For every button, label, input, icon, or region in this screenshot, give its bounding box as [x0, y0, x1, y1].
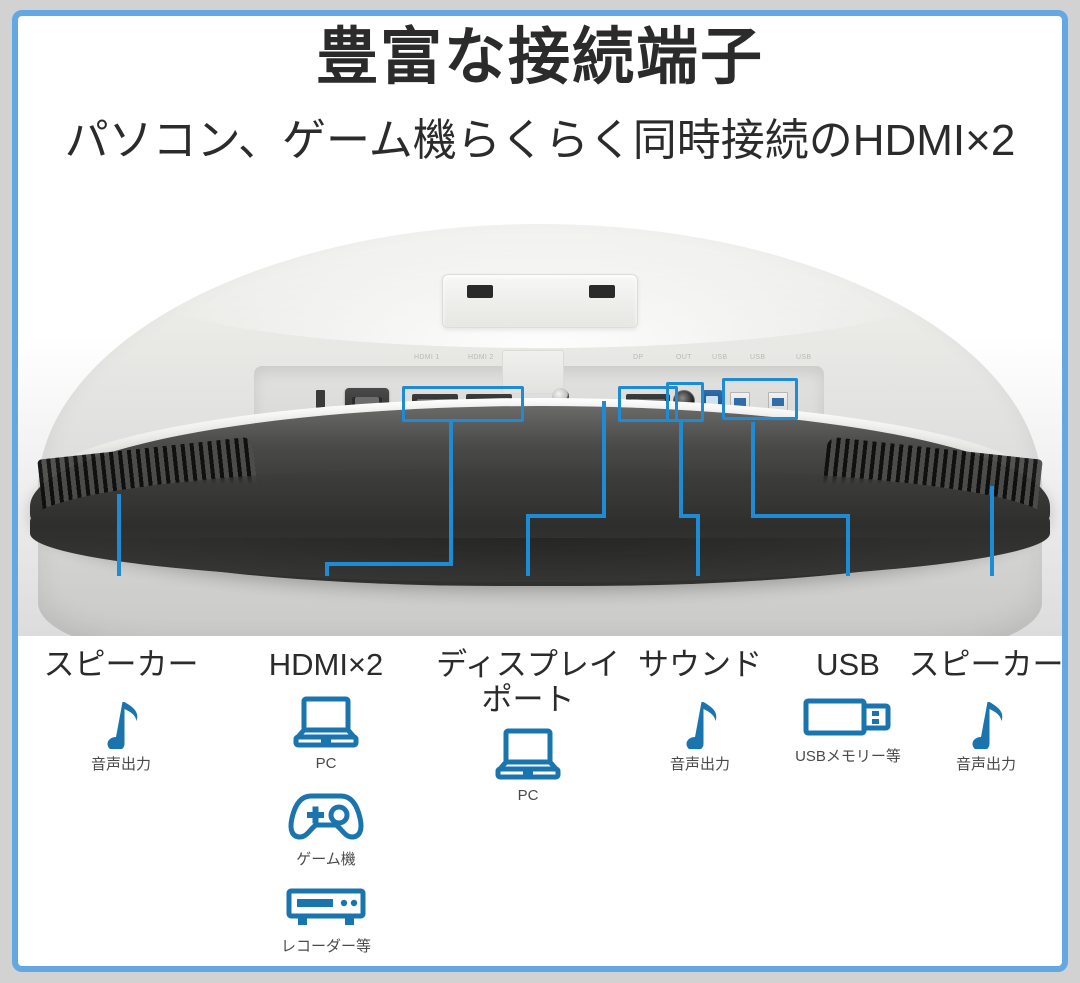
gamepad-icon	[230, 786, 422, 844]
stand-mount-plate	[442, 274, 638, 328]
recorder-icon	[230, 883, 422, 931]
icon-block-gamepad: ゲーム機	[230, 786, 422, 869]
icon-caption: 音声出力	[626, 753, 774, 774]
icon-block-pc: PC	[230, 693, 422, 772]
page-subtitle: パソコン、ゲーム機らくらく同時接続のHDMI×2	[18, 104, 1062, 168]
io-silk-labels: HDMI 1 HDMI 2 DP OUT USB USB USB	[268, 354, 818, 368]
icon-caption: PC	[428, 787, 628, 804]
callout-title: HDMI×2	[230, 648, 422, 683]
callout-speaker-right: スピーカー 音声出力	[908, 648, 1064, 774]
highlight-usb	[722, 378, 798, 420]
callout-title: ディスプレイ ポート	[428, 648, 628, 717]
music-note-icon	[626, 693, 774, 749]
music-note-icon	[36, 693, 206, 749]
callout-displayport: ディスプレイ ポート PC	[428, 648, 628, 804]
callout-title: スピーカー	[36, 648, 206, 683]
laptop-icon	[230, 693, 422, 751]
io-label-dp: DP	[633, 354, 643, 361]
icon-caption: 音声出力	[908, 753, 1064, 774]
page-title: 豊富な接続端子	[18, 24, 1062, 89]
icon-block: 音声出力	[626, 693, 774, 774]
product-photo: HDMI 1 HDMI 2 DP OUT USB USB USB	[18, 166, 1062, 636]
usb-drive-icon	[770, 693, 926, 741]
io-label-usb-b: USB	[712, 354, 727, 361]
icon-block-recorder: レコーダー等	[230, 883, 422, 956]
io-label-usb-2: USB	[796, 354, 811, 361]
mount-slot-left	[467, 285, 493, 298]
highlight-sound	[666, 382, 704, 422]
page-root: 豊富な接続端子 パソコン、ゲーム機らくらく同時接続のHDMI×2 HDMI 1 …	[0, 0, 1080, 983]
icon-caption: 音声出力	[36, 753, 206, 774]
callout-title: サウンド	[626, 648, 774, 683]
kensington-lock-slot	[316, 390, 325, 408]
callout-title: スピーカー	[908, 648, 1064, 683]
io-label-hdmi1: HDMI 1	[414, 354, 440, 361]
table-shadow	[38, 538, 1042, 608]
icon-block-pc: PC	[428, 725, 628, 804]
icon-block: 音声出力	[908, 693, 1064, 774]
icon-block: 音声出力	[36, 693, 206, 774]
io-label-hdmi2: HDMI 2	[468, 354, 494, 361]
callout-usb: USB USBメモリー等	[770, 648, 926, 766]
callout-speaker-left: スピーカー 音声出力	[36, 648, 206, 774]
io-label-usb-1: USB	[750, 354, 765, 361]
icon-caption: PC	[230, 755, 422, 772]
icon-caption: ゲーム機	[230, 848, 422, 869]
callout-hdmi: HDMI×2 PC	[230, 648, 422, 956]
callout-sound: サウンド 音声出力	[626, 648, 774, 774]
io-label-out: OUT	[676, 354, 692, 361]
laptop-icon	[428, 725, 628, 783]
icon-caption: USBメモリー等	[770, 745, 926, 766]
highlight-hdmi	[402, 386, 524, 422]
feature-card: 豊富な接続端子 パソコン、ゲーム機らくらく同時接続のHDMI×2 HDMI 1 …	[12, 10, 1068, 972]
music-note-icon	[908, 693, 1064, 749]
callout-title: USB	[770, 648, 926, 683]
mount-slot-right	[589, 285, 615, 298]
icon-block: USBメモリー等	[770, 693, 926, 766]
icon-caption: レコーダー等	[230, 935, 422, 956]
